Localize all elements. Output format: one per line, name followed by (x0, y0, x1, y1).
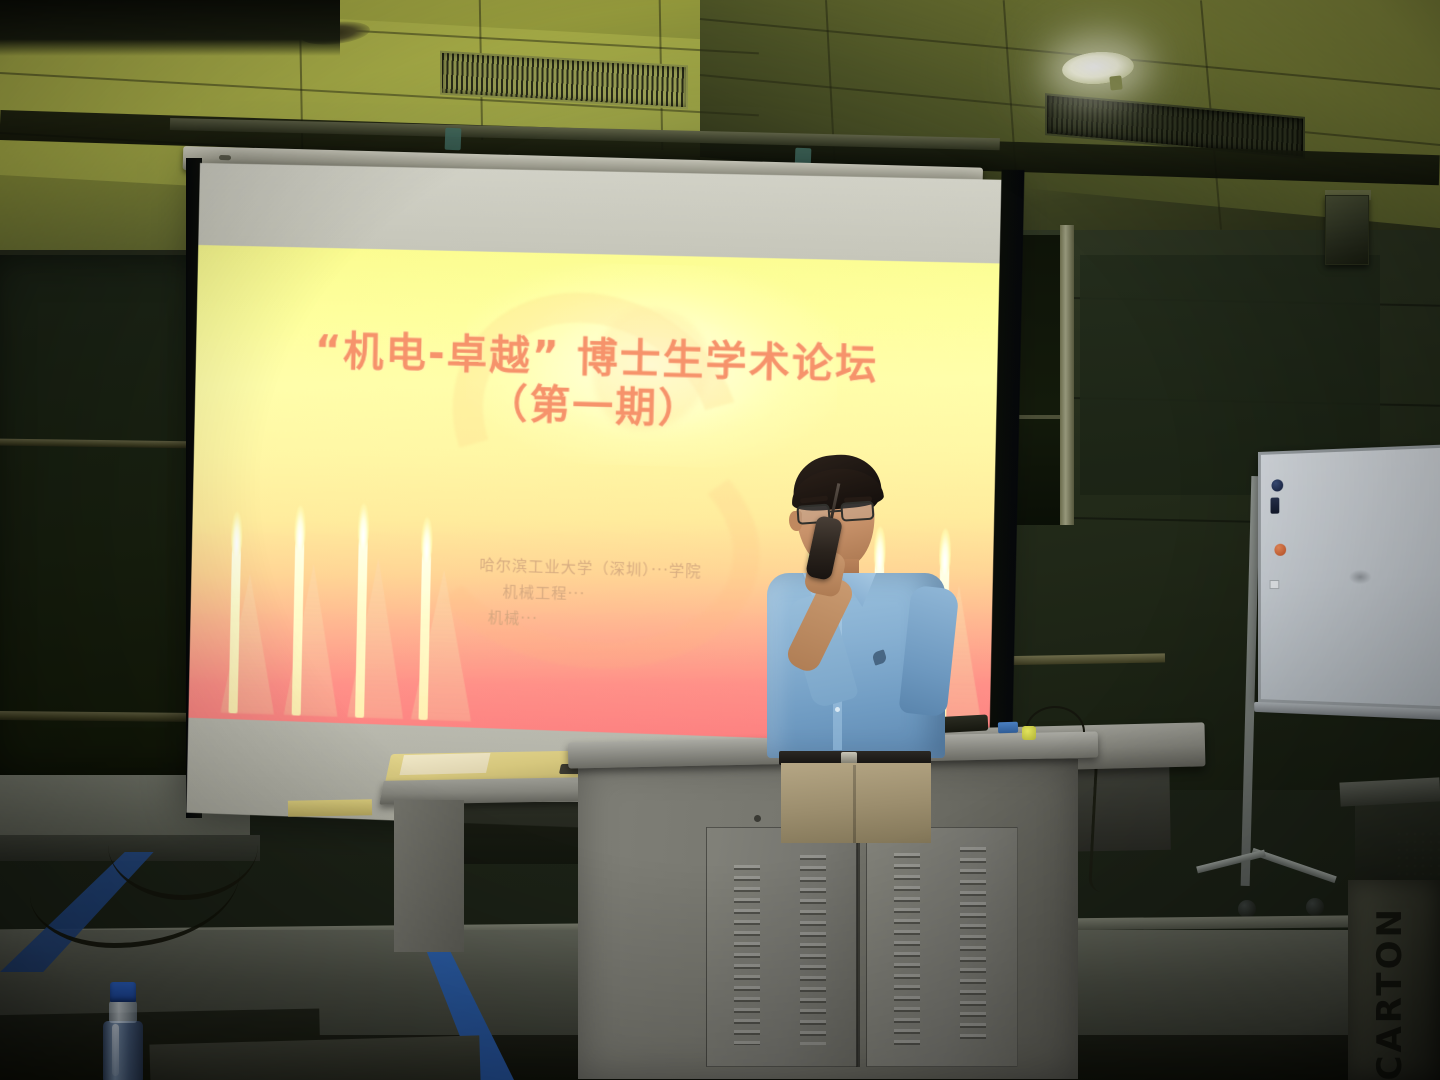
bottle-highlight (112, 1024, 119, 1076)
vent-louver (894, 853, 920, 1045)
cable-connector-icon[interactable] (998, 722, 1018, 734)
slide-title-block: “机电-卓越” 博士生学术论坛 （第一期） (195, 325, 1002, 442)
floor-cable (108, 790, 258, 900)
bottle-neck (109, 1001, 137, 1023)
ceiling-shadow (0, 0, 340, 56)
far-right-chair[interactable] (1355, 800, 1440, 890)
screw-icon (219, 155, 231, 160)
magnet-icon[interactable] (1274, 544, 1286, 556)
lens (840, 501, 874, 522)
door-gap (856, 827, 860, 1067)
bottle-cap-icon[interactable] (110, 982, 136, 1002)
magnet-icon[interactable] (1271, 497, 1280, 513)
blackboard-left (0, 255, 215, 775)
rail-hanger (445, 128, 462, 151)
mobile-whiteboard[interactable] (1258, 444, 1440, 709)
flame-icon (294, 506, 306, 551)
vent-louver (734, 865, 760, 1045)
bottle-body (103, 1021, 143, 1080)
yellow-table-edge (288, 799, 372, 816)
podium-door-left[interactable] (706, 827, 858, 1067)
door-frame (1060, 225, 1074, 525)
water-bottle[interactable] (96, 982, 148, 1080)
lock-icon[interactable] (754, 815, 761, 822)
shirt-button (835, 707, 840, 712)
cardboard-box[interactable]: CARTON (1348, 880, 1440, 1080)
trouser-seam (853, 765, 856, 843)
whiteboard-clip[interactable] (1270, 580, 1280, 589)
lecture-hall-photo: “机电-卓越” 博士生学术论坛 （第一期） 哈尔滨工业大学（深圳）···学院 机… (0, 0, 1440, 1080)
vent-louver (800, 855, 826, 1045)
ceiling-light-stem (1109, 75, 1122, 90)
desk-green-object[interactable] (1022, 726, 1036, 740)
presenter (745, 455, 960, 785)
wall-speaker-icon (1325, 195, 1369, 265)
caster-wheel-icon (1306, 898, 1324, 916)
caster-wheel-icon (1238, 900, 1256, 918)
trousers (781, 763, 931, 843)
podium-door-right[interactable] (866, 827, 1018, 1067)
vent-louver (960, 847, 986, 1043)
table-leg (394, 800, 464, 952)
paper-sheet[interactable] (400, 753, 491, 775)
whiteboard-smudge (1349, 570, 1372, 585)
box-label: CARTON (1370, 906, 1410, 1080)
